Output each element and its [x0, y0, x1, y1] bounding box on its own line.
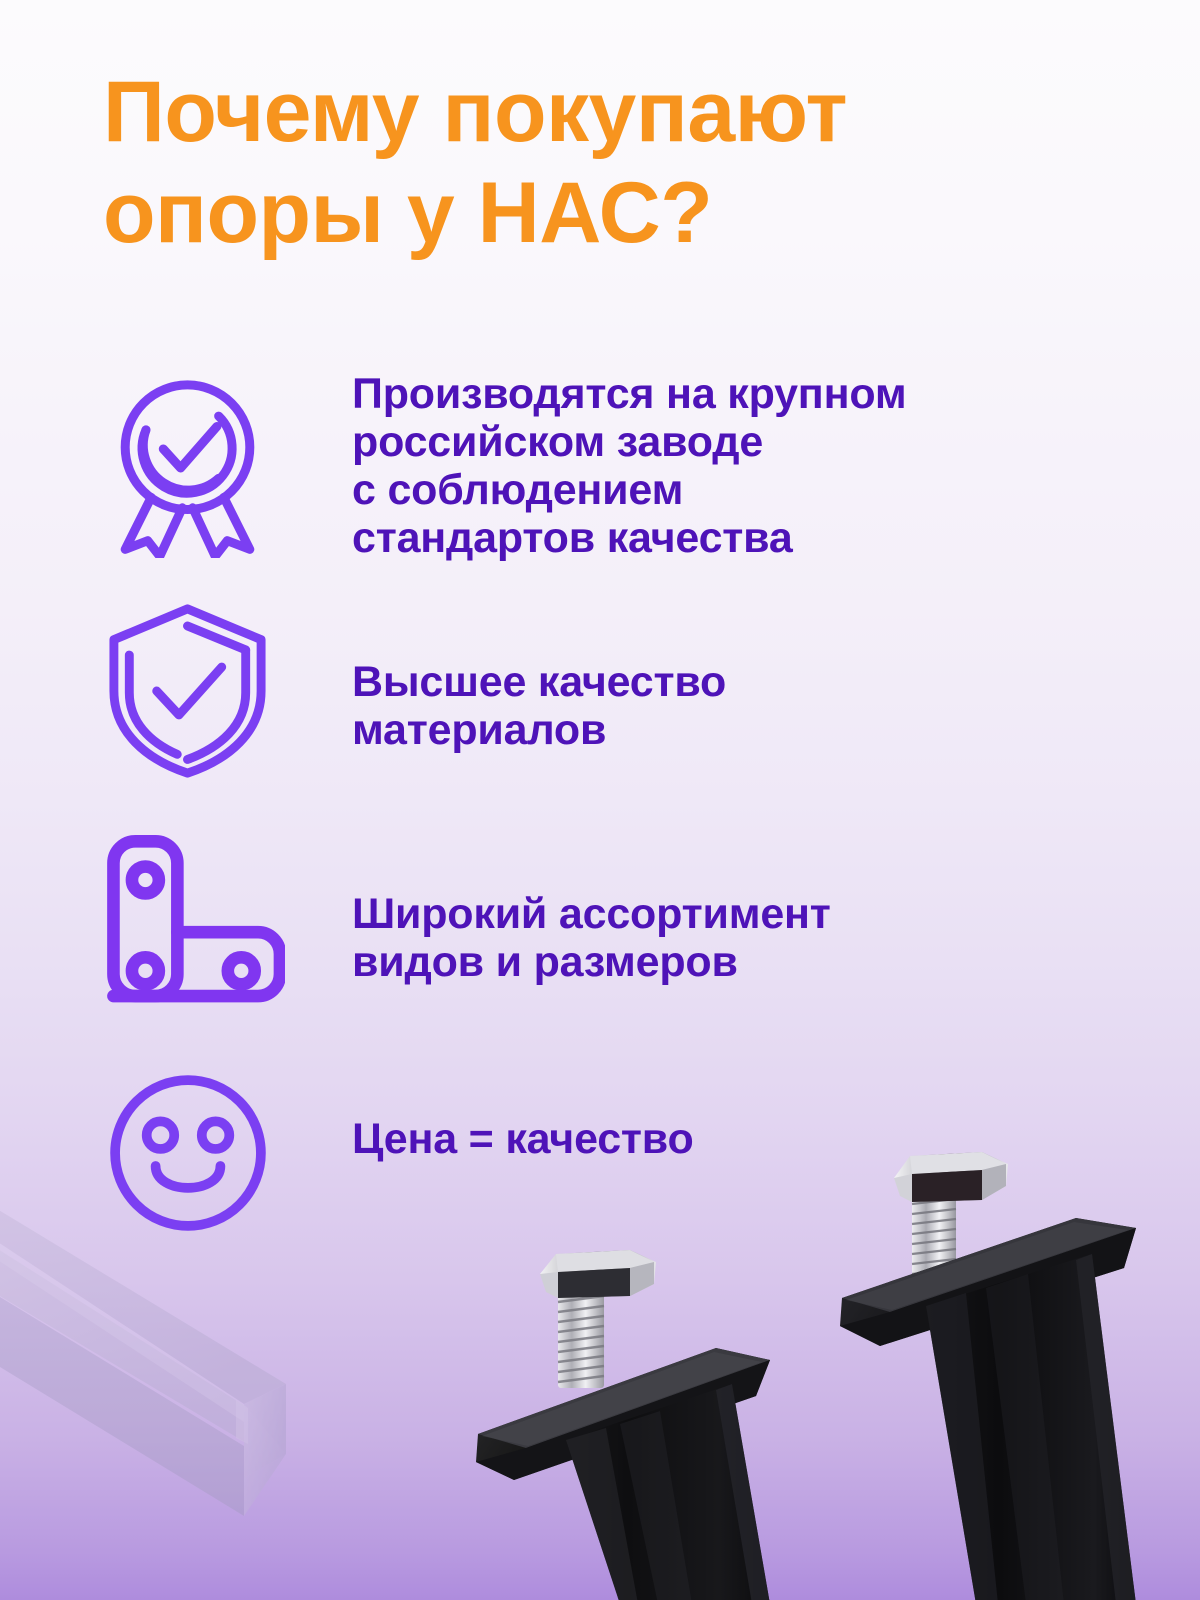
- square-tube-profile: [0, 1186, 346, 1600]
- feature-label: Производятся на крупном российском завод…: [352, 370, 1132, 563]
- angle-bracket-icon: [100, 822, 285, 1012]
- award-medal-check-icon: [100, 378, 275, 558]
- furniture-leg-right: [840, 1150, 1180, 1600]
- feature-label: Высшее качество материалов: [352, 658, 1132, 754]
- furniture-leg-left: [470, 1248, 830, 1600]
- page-title: Почему покупают опоры у НАС?: [103, 62, 1123, 265]
- feature-label: Широкий ассортимент видов и размеров: [352, 890, 1152, 986]
- smiley-face-icon: [104, 1072, 272, 1234]
- feature-label: Цена = качество: [352, 1115, 1132, 1163]
- poster-canvas: Почему покупают опоры у НАС? Производятс…: [0, 0, 1200, 1600]
- shield-check-icon: [100, 602, 275, 780]
